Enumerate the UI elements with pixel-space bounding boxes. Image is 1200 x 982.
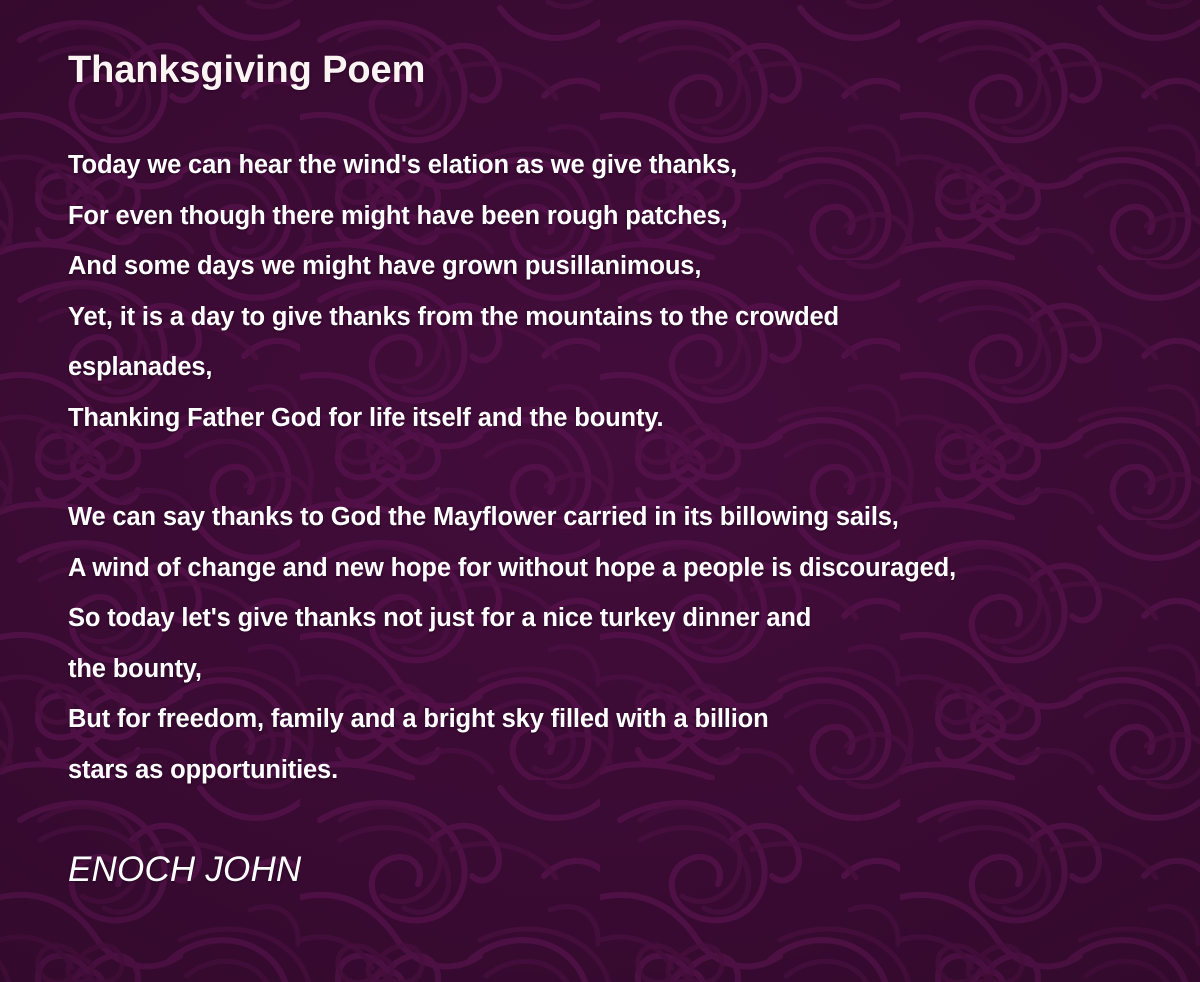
poem-line: stars as opportunities. [68, 745, 1200, 796]
poem-content: Thanksgiving Poem Today we can hear the … [0, 0, 1200, 892]
poem-line: So today let's give thanks not just for … [68, 593, 1200, 644]
poem-line: We can say thanks to God the Mayflower c… [68, 492, 1200, 543]
page-title: Thanksgiving Poem [68, 46, 1200, 94]
stanza-1: Today we can hear the wind's elation as … [68, 140, 1200, 443]
poem-body: Today we can hear the wind's elation as … [68, 140, 1200, 795]
poem-line: esplanades, [68, 342, 1200, 393]
stanza-2: We can say thanks to God the Mayflower c… [68, 492, 1200, 795]
poem-line: Yet, it is a day to give thanks from the… [68, 292, 1200, 343]
poem-line: Today we can hear the wind's elation as … [68, 140, 1200, 191]
poem-author: ENOCH JOHN [68, 848, 1200, 892]
poem-line: For even though there might have been ro… [68, 191, 1200, 242]
poem-line: And some days we might have grown pusill… [68, 241, 1200, 292]
poem-line: the bounty, [68, 644, 1200, 695]
poem-page: Thanksgiving Poem Today we can hear the … [0, 0, 1200, 982]
poem-line: A wind of change and new hope for withou… [68, 543, 1200, 594]
poem-line: Thanking Father God for life itself and … [68, 393, 1200, 444]
poem-line: But for freedom, family and a bright sky… [68, 694, 1200, 745]
